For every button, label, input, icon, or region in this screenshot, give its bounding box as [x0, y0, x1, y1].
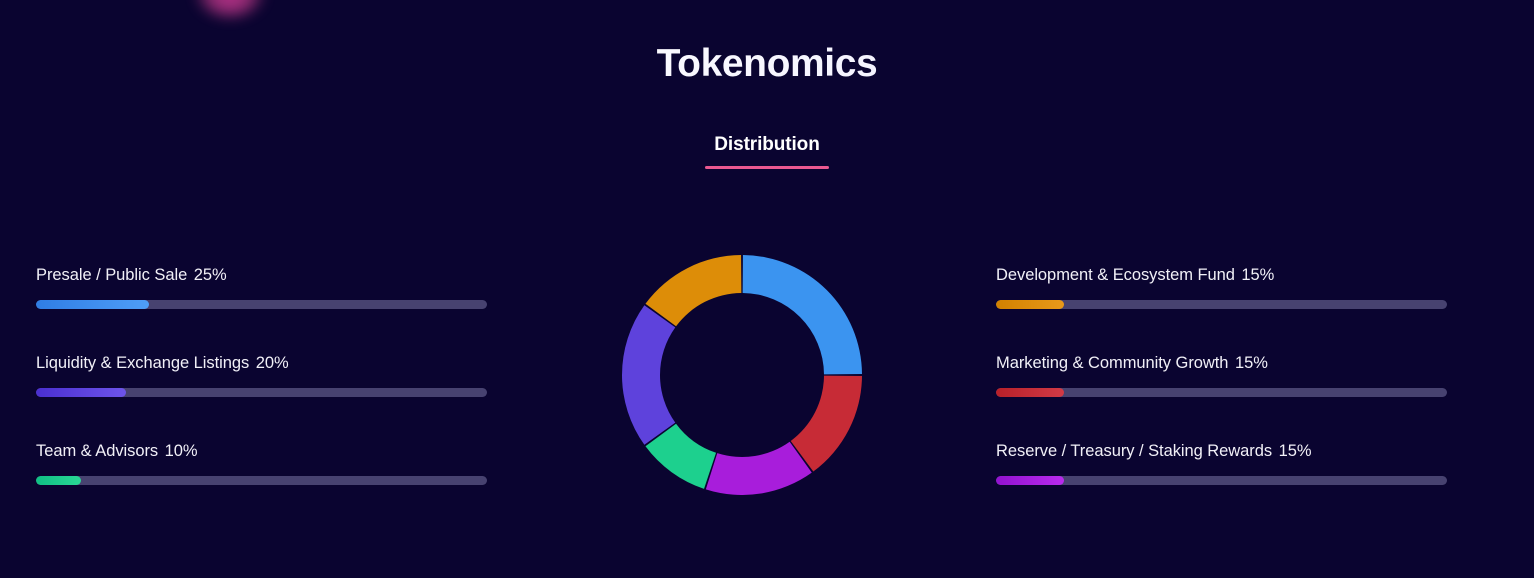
legend-item-name: Team & Advisors	[36, 442, 158, 460]
donut-svg	[622, 255, 862, 495]
legend-item-label: Presale / Public Sale 25%	[36, 265, 487, 285]
donut-slice	[743, 255, 862, 374]
legend-item: Reserve / Treasury / Staking Rewards 15%	[996, 441, 1447, 529]
legend-progress-fill	[36, 476, 81, 485]
legend-item-name: Presale / Public Sale	[36, 266, 187, 284]
legend-column-right: Development & Ecosystem Fund 15%Marketin…	[996, 265, 1447, 529]
legend-item-label: Liquidity & Exchange Listings 20%	[36, 353, 487, 373]
page-title: Tokenomics	[0, 40, 1534, 88]
legend-item-label: Development & Ecosystem Fund 15%	[996, 265, 1447, 285]
tokenomics-donut-chart	[622, 255, 862, 495]
donut-slice	[645, 255, 741, 326]
legend-item-percent: 15%	[1230, 354, 1267, 372]
donut-slice	[706, 442, 812, 495]
legend-item-name: Liquidity & Exchange Listings	[36, 354, 249, 372]
legend-item-name: Marketing & Community Growth	[996, 354, 1228, 372]
legend-item-name: Development & Ecosystem Fund	[996, 266, 1235, 284]
legend-item-label: Team & Advisors 10%	[36, 441, 487, 461]
legend-item: Marketing & Community Growth 15%	[996, 353, 1447, 441]
donut-slice	[622, 305, 675, 445]
donut-slice	[791, 376, 862, 472]
legend-progress-fill	[36, 300, 149, 309]
legend-progress-track	[36, 300, 487, 309]
legend-progress-fill	[996, 300, 1064, 309]
legend-progress-track	[36, 476, 487, 485]
legend-item: Liquidity & Exchange Listings 20%	[36, 353, 487, 441]
legend-item-label: Reserve / Treasury / Staking Rewards 15%	[996, 441, 1447, 461]
legend-item-name: Reserve / Treasury / Staking Rewards	[996, 442, 1272, 460]
distribution-heading: Distribution	[714, 134, 819, 169]
legend-item: Presale / Public Sale 25%	[36, 265, 487, 353]
legend-item-percent: 25%	[189, 266, 226, 284]
legend-item: Team & Advisors 10%	[36, 441, 487, 529]
distribution-heading-wrap: Distribution	[0, 134, 1534, 169]
legend-column-left: Presale / Public Sale 25%Liquidity & Exc…	[36, 265, 487, 529]
legend-progress-fill	[996, 388, 1064, 397]
legend-item-percent: 15%	[1274, 442, 1311, 460]
legend-item-percent: 10%	[160, 442, 197, 460]
legend-progress-track	[996, 388, 1447, 397]
decorative-glow-orb	[196, 0, 264, 16]
distribution-heading-label: Distribution	[714, 134, 819, 155]
legend-progress-track	[996, 476, 1447, 485]
legend-item: Development & Ecosystem Fund 15%	[996, 265, 1447, 353]
legend-item-percent: 20%	[251, 354, 288, 372]
legend-progress-track	[996, 300, 1447, 309]
legend-progress-fill	[36, 388, 126, 397]
legend-progress-track	[36, 388, 487, 397]
distribution-underline	[705, 166, 829, 169]
legend-item-percent: 15%	[1237, 266, 1274, 284]
legend-item-label: Marketing & Community Growth 15%	[996, 353, 1447, 373]
legend-progress-fill	[996, 476, 1064, 485]
